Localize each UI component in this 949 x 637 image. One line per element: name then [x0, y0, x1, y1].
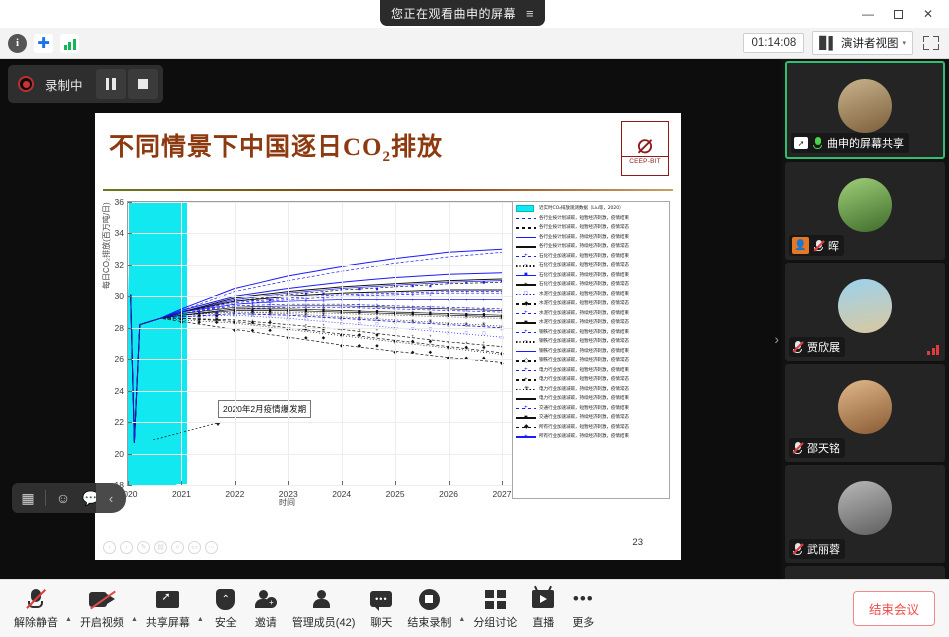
blank-screen-icon[interactable]: ▭	[188, 541, 201, 554]
avatar	[838, 279, 892, 333]
chart-series-line	[131, 279, 502, 443]
title-divider	[103, 189, 673, 191]
legend-swatch: +	[515, 280, 537, 289]
toolbar-right-group: 01:14:08 ▊▌ 演讲者视图 ▾	[743, 31, 949, 55]
participant-badge: 贾欣展	[789, 337, 845, 357]
chart-data-marker: ■	[358, 286, 361, 291]
legend-item: 各行业按计划减碳，持续经济刺激，疫情结束	[515, 233, 667, 243]
chart-gridline	[128, 296, 518, 297]
chart-x-tick-label: 2027	[493, 489, 512, 499]
chart-gridline	[128, 233, 518, 234]
legend-item: 各行业按计划减碳，持续经济刺激，疫情常态	[515, 242, 667, 252]
legend-swatch: +	[515, 252, 537, 261]
legend-swatch	[515, 394, 537, 403]
toolbar-button-shield[interactable]: ⌃安全	[206, 587, 246, 630]
mic-on-icon[interactable]	[812, 136, 823, 150]
legend-item: 近实时CO₂排放观测数据（Liu等，2020）	[515, 204, 667, 214]
chart-x-tick-mark	[288, 481, 289, 485]
legend-item: +交通行业加速减碳，短暂经济刺激，疫情结束	[515, 404, 667, 414]
legend-swatch	[515, 214, 537, 223]
chart-gridline	[128, 391, 518, 392]
chart-data-marker: □	[465, 330, 468, 335]
chart-data-marker: +	[465, 305, 468, 310]
chart-data-marker: ◆	[304, 335, 308, 340]
avatar	[838, 79, 892, 133]
chart-y-tick-label: 36	[115, 197, 124, 207]
chevron-down-icon: ▾	[902, 39, 906, 47]
participant-name: 武丽蓉	[807, 541, 840, 557]
legend-item: ◆所有行业加速减碳，短暂经济刺激，疫情常态	[515, 423, 667, 433]
mic-muted-icon[interactable]	[792, 542, 803, 556]
view-mode-label: 演讲者视图	[841, 35, 899, 51]
chart-gridline	[502, 202, 503, 485]
legend-item: ■石化行业加速减碳，持续经济刺激，疫情结束	[515, 271, 667, 281]
collapse-overlay-button[interactable]: ‹	[96, 483, 126, 513]
chart-y-tick-mark	[128, 391, 132, 392]
stop-record-icon	[419, 587, 440, 611]
close-button[interactable]: ✕	[913, 0, 943, 28]
chart-data-marker: +	[322, 299, 325, 304]
legend-label: 水泥行业加速减碳，持续经济刺激，疫情结束	[539, 309, 629, 318]
chart-data-marker: +	[429, 297, 432, 302]
toolbar-button-label: 更多	[572, 614, 594, 630]
legend-swatch: ■	[515, 413, 537, 422]
legend-swatch: ◆	[515, 299, 537, 308]
chart-data-marker: +	[251, 318, 254, 323]
legend-swatch	[515, 204, 537, 213]
chart-observed-area	[128, 241, 176, 485]
screen-share-notice: 您正在观看曲申的屏幕 ≡	[380, 0, 545, 26]
legend-swatch: +	[515, 432, 537, 441]
legend-item: □水泥行业加速减碳，短暂经济刺激，疫情结束	[515, 290, 667, 300]
invite-icon: +	[255, 587, 277, 611]
legend-item: 各行业按计划减碳，短暂经济刺激，疫情结束	[515, 214, 667, 224]
legend-swatch: ○	[515, 337, 537, 346]
legend-swatch: □	[515, 290, 537, 299]
chat-icon: •••	[370, 587, 392, 611]
stop-recording-button[interactable]	[128, 69, 158, 99]
info-icon[interactable]: i	[8, 34, 27, 53]
participant-badge: ➚曲申的屏幕共享	[791, 133, 909, 153]
slideshow-controls[interactable]: ‹ › ✎ ▤ ⌕ ▭ ⋯	[103, 541, 218, 554]
chart-gridline	[128, 359, 518, 360]
chart-data-marker: +	[482, 297, 485, 302]
legend-item: +电力行业加速减碳，短暂经济刺激，疫情结束	[515, 366, 667, 376]
chart-y-tick-label: 24	[115, 386, 124, 396]
legend-label: 各行业按计划减碳，短暂经济刺激，疫情常态	[539, 223, 629, 232]
chart-data-marker: ○	[376, 334, 379, 339]
chart-data-marker: +	[482, 305, 485, 310]
minimize-button[interactable]: —	[853, 0, 883, 28]
chart-data-marker: ■	[482, 312, 485, 317]
legend-swatch	[515, 233, 537, 242]
shield-icon: ⌃	[216, 587, 235, 611]
toolbar-button-participants[interactable]: 管理成员(42)	[286, 587, 362, 630]
zoom-icon[interactable]: ⌕	[171, 541, 184, 554]
legend-label: 石化行业加速减碳，短暂经济刺激，疫情常态	[539, 261, 629, 270]
legend-label: 水泥行业加速减碳，短暂经济刺激，疫情结束	[539, 290, 629, 299]
chart-data-marker: ■	[429, 310, 432, 315]
window-controls: — ✕	[853, 0, 943, 28]
chart-gridline	[128, 454, 518, 455]
chart-gridline	[395, 202, 396, 485]
legend-item: ✳电力行业加速减碳，持续经济刺激，疫情常态	[515, 385, 667, 395]
chart-y-tick-label: 32	[115, 260, 124, 270]
participant-tile[interactable]: ➚曲申的屏幕共享	[785, 61, 945, 159]
toolbar-left-icons: i ✚	[0, 34, 79, 53]
legend-item: ■交通行业加速减碳，持续经济刺激，疫情常态	[515, 413, 667, 423]
host-icon: 👤	[792, 237, 809, 254]
legend-label: 水泥行业加速减碳，持续经济刺激，疫情常态	[539, 318, 629, 327]
breakout-rooms-icon	[485, 587, 506, 611]
legend-label: 电力行业加速减碳，持续经济刺激，疫情常态	[539, 385, 629, 394]
ceep-bit-logo: ⌀ CEEP-BIT	[621, 121, 669, 176]
chart-y-tick-label: 30	[115, 291, 124, 301]
chart-data-marker: +	[358, 316, 361, 321]
chart-y-tick-mark	[128, 454, 132, 455]
toolbar-button-share-screen[interactable]: 共享屏幕	[140, 587, 196, 630]
chart-gridline	[342, 202, 343, 485]
presentation-slide: 不同情景下中国逐日CO2排放 ⌀ CEEP-BIT 每日CO₂排放(百万吨/日)…	[95, 113, 681, 560]
chart-gridline	[128, 265, 518, 266]
chart-data-marker: ○	[482, 346, 485, 351]
legend-item: 钢铁行业加速减碳，持续经济刺激，疫情结束	[515, 347, 667, 357]
legend-item: +水泥行业加速减碳，持续经济刺激，疫情结束	[515, 309, 667, 319]
chart-data-marker: ■	[411, 310, 414, 315]
meeting-timer: 01:14:08	[743, 33, 804, 53]
chart-y-tick-mark	[128, 422, 132, 423]
participant-name: 曲申的屏幕共享	[827, 135, 904, 151]
participant-name: 邵天铭	[807, 440, 840, 456]
legend-label: 水泥行业加速减碳，短暂经济刺激，疫情常态	[539, 299, 629, 308]
participant-rail[interactable]: ➚曲申的屏幕共享👤晖贾欣展邵天铭武丽蓉⌄	[781, 59, 949, 579]
legend-label: 石化行业加速减碳，短暂经济刺激，疫情结束	[539, 252, 629, 261]
legend-item: ◇钢铁行业加速减碳，持续经济刺激，疫情常态	[515, 356, 667, 366]
apps-grid-icon[interactable]: ▦	[15, 485, 41, 511]
chart-x-tick-label: 2022	[225, 489, 244, 499]
legend-label: 钢铁行业加速减碳，短暂经济刺激，疫情常态	[539, 337, 629, 346]
chart-data-marker: +	[376, 302, 379, 307]
chart-data-marker: +	[376, 297, 379, 302]
legend-item: ○石化行业加速减碳，短暂经济刺激，疫情常态	[515, 261, 667, 271]
chart-data-marker: ■	[305, 307, 308, 312]
chart-y-tick-label: 26	[115, 354, 124, 364]
chart-y-tick-mark	[128, 265, 132, 266]
chart-data-marker: +	[322, 313, 325, 318]
chart-data-marker: ■	[269, 307, 272, 312]
slide-page-number: 23	[632, 537, 643, 548]
chart-data-marker: +	[411, 297, 414, 302]
chevron-up-icon[interactable]: ▲	[65, 616, 72, 623]
legend-label: 交通行业加速减碳，短暂经济刺激，疫情结束	[539, 404, 629, 413]
toolbar-button-chat[interactable]: •••聊天	[361, 587, 401, 630]
legend-swatch: ■	[515, 271, 537, 280]
chart-data-marker: ■	[482, 280, 485, 285]
chart-data-marker: +	[269, 302, 272, 307]
emoji-icon[interactable]: ☺	[50, 485, 76, 511]
chart-data-marker: ◆	[411, 349, 415, 354]
legend-label: 所有行业加速减碳，短暂经济刺激，疫情常态	[539, 423, 629, 432]
chart-data-marker: +	[358, 297, 361, 302]
chart-x-tick-mark	[235, 481, 236, 485]
screen-share-notice-text: 您正在观看曲申的屏幕	[391, 5, 516, 22]
chart-data-marker: +	[269, 318, 272, 323]
legend-item: +钢铁行业加速减碳，短暂经济刺激，疫情结束	[515, 328, 667, 338]
chart-data-marker: +	[429, 319, 432, 324]
participant-badge: 邵天铭	[789, 438, 845, 458]
chart-y-tick-mark	[128, 359, 132, 360]
chart-x-tick-label: 2026	[439, 489, 458, 499]
window-titlebar: 您正在观看曲申的屏幕 ≡ — ✕	[0, 0, 949, 28]
chart-gridline	[449, 202, 450, 485]
slide-title-subscript: 2	[383, 149, 392, 165]
chart-annotation: 2020年2月疫情爆发期	[218, 400, 311, 418]
toolbar-button-label: 开启视频	[80, 614, 124, 630]
legend-item: ◆水泥行业加速减碳，短暂经济刺激，疫情常态	[515, 299, 667, 309]
participant-tile[interactable]: 武丽蓉	[785, 465, 945, 563]
chart-y-tick-mark	[128, 233, 132, 234]
legend-item: 电力行业加速减碳，持续经济刺激，疫情结束	[515, 394, 667, 404]
toolbar-button-label: 结束录制	[407, 614, 451, 630]
chart-y-tick-mark	[128, 328, 132, 329]
chart-data-marker: ■	[465, 280, 468, 285]
chart-data-marker: ◆	[375, 343, 379, 348]
recording-indicator: 录制中	[8, 65, 163, 103]
speaker-view-icon: ▊▌	[819, 36, 837, 50]
toolbar-button-mic-muted[interactable]: 解除静音	[8, 587, 64, 630]
maximize-button[interactable]	[883, 0, 913, 28]
legend-item: +石化行业加速减碳，持续经济刺激，疫情常态	[515, 280, 667, 290]
fullscreen-icon[interactable]	[921, 33, 941, 53]
legend-swatch: +	[515, 309, 537, 318]
legend-item: ○钢铁行业加速减碳，短暂经济刺激，疫情常态	[515, 337, 667, 347]
chart-data-marker: +	[251, 312, 254, 317]
chart-data-marker: ○	[358, 334, 361, 339]
legend-item: 各行业按计划减碳，短暂经济刺激，疫情常态	[515, 223, 667, 233]
co2-emission-chart: 每日CO₂排放(百万吨/日) +++++++++++++++++++○○○○○○…	[103, 197, 673, 527]
prev-slide-icon[interactable]: ‹	[103, 541, 116, 554]
pause-recording-button[interactable]	[96, 69, 126, 99]
chart-gridline	[128, 328, 518, 329]
participant-tile[interactable]: 👤晖	[785, 162, 945, 260]
chart-data-marker: +	[376, 316, 379, 321]
chart-data-marker: +	[465, 297, 468, 302]
legend-label: 所有行业加速减碳，持续经济刺激，疫情结束	[539, 432, 629, 441]
next-slide-icon[interactable]: ›	[120, 541, 133, 554]
legend-label: 电力行业加速减碳，短暂经济刺激，疫情常态	[539, 375, 629, 384]
chart-x-tick-label: 2024	[332, 489, 351, 499]
chart-y-tick-label: 22	[115, 417, 124, 427]
mic-muted-icon[interactable]	[813, 239, 824, 253]
chart-data-marker: ◆	[358, 343, 362, 348]
legend-swatch: ✳	[515, 385, 537, 394]
legend-label: 电力行业加速减碳，持续经济刺激，疫情结束	[539, 394, 629, 403]
legend-swatch: +	[515, 375, 537, 384]
chart-data-marker: ◆	[429, 349, 433, 354]
toolbar-button-label: 聊天	[370, 614, 392, 630]
legend-item: +石化行业加速减碳，短暂经济刺激，疫情结束	[515, 252, 667, 262]
chart-y-tick-label: 20	[115, 449, 124, 459]
participant-badge: 👤晖	[789, 235, 844, 256]
chart-data-marker: +	[429, 334, 432, 339]
floating-reaction-bar: ▦ ☺ 💬	[12, 483, 107, 513]
chevron-up-icon[interactable]: ▲	[131, 616, 138, 623]
toolbar-button-label: 安全	[215, 614, 237, 630]
participant-badge: 武丽蓉	[789, 539, 845, 559]
chart-gridline	[128, 422, 518, 423]
participant-name: 晖	[828, 238, 839, 254]
avatar	[838, 178, 892, 232]
chart-data-marker: +	[465, 340, 468, 345]
chart-data-marker: ■	[429, 283, 432, 288]
network-signal-icon	[927, 345, 939, 355]
toolbar-button-label: 共享屏幕	[146, 614, 190, 630]
encryption-shield-icon[interactable]: ✚	[34, 34, 53, 53]
chart-x-tick-mark	[395, 481, 396, 485]
chart-data-marker: □	[482, 330, 485, 335]
chart-data-marker: +	[411, 319, 414, 324]
chart-x-tick-mark	[128, 481, 129, 485]
pen-icon[interactable]: ✎	[137, 541, 150, 554]
legend-swatch: ◆	[515, 423, 537, 432]
toolbar-button-breakout-rooms[interactable]: 分组讨论	[467, 587, 523, 630]
chart-data-marker: +	[305, 313, 308, 318]
chart-data-marker: ○	[411, 340, 414, 345]
chart-y-tick-label: 34	[115, 228, 124, 238]
chart-data-marker: ■	[376, 286, 379, 291]
chart-data-marker: +	[198, 310, 201, 315]
mic-muted-icon[interactable]	[792, 340, 803, 354]
share-screen-icon	[156, 587, 179, 611]
legend-item: +电力行业加速减碳，短暂经济刺激，疫情常态	[515, 375, 667, 385]
legend-label: 交通行业加速减碳，持续经济刺激，疫情常态	[539, 413, 629, 422]
toolbar-button-video-off[interactable]: 开启视频	[74, 587, 130, 630]
chart-gridline	[128, 485, 518, 486]
toolbar-button-stop-record[interactable]: 结束录制	[401, 587, 457, 630]
chart-y-tick-mark	[128, 202, 132, 203]
chart-series-lines: +++++++++++++++++++○○○○○○○○○○○○○○○○○○○■■…	[128, 202, 518, 485]
chart-data-marker: +	[269, 312, 272, 317]
legend-label: 各行业按计划减碳，持续经济刺激，疫情常态	[539, 242, 629, 251]
end-meeting-button[interactable]: 结束会议	[853, 591, 935, 626]
chevron-up-icon[interactable]: ▲	[197, 616, 204, 623]
avatar	[838, 380, 892, 434]
chart-data-marker: +	[411, 334, 414, 339]
chart-data-marker: □	[376, 321, 379, 326]
mic-muted-icon	[27, 587, 45, 611]
legend-swatch	[515, 347, 537, 356]
participant-name: 贾欣展	[807, 339, 840, 355]
recording-dot-icon	[18, 76, 34, 92]
chart-data-marker: +	[429, 304, 432, 309]
view-mode-selector[interactable]: ▊▌ 演讲者视图 ▾	[812, 31, 913, 55]
recording-controls	[96, 69, 158, 99]
meeting-controls-toolbar: 解除静音▲开启视频▲共享屏幕▲⌃安全+邀请管理成员(42)•••聊天结束录制▲分…	[0, 579, 949, 637]
notice-menu-icon[interactable]: ≡	[526, 7, 534, 20]
legend-label: 钢铁行业加速减碳，短暂经济刺激，疫情结束	[539, 328, 629, 337]
logo-swirl-icon: ⌀	[637, 132, 653, 156]
chart-x-axis-label: 时间	[279, 497, 295, 508]
chart-x-tick-mark	[502, 481, 503, 485]
chart-data-marker: +	[482, 340, 485, 345]
chart-y-tick-label: 28	[115, 323, 124, 333]
chart-data-marker: ■	[411, 283, 414, 288]
participants-icon	[313, 587, 335, 611]
toolbar-button-live-stream[interactable]: 直播	[523, 587, 563, 630]
legend-label: 石化行业加速减碳，持续经济刺激，疫情常态	[539, 280, 629, 289]
chart-data-marker: ◆	[197, 319, 201, 324]
expand-panel-icon[interactable]: ›	[774, 331, 779, 347]
chart-y-tick-mark	[128, 296, 132, 297]
chart-plot-area: +++++++++++++++++++○○○○○○○○○○○○○○○○○○○■■…	[127, 201, 519, 486]
chart-data-marker: ■	[251, 307, 254, 312]
video-off-icon	[89, 587, 115, 611]
chart-data-marker: ■	[376, 308, 379, 313]
chart-data-marker: +	[358, 302, 361, 307]
chart-gridline	[181, 202, 182, 485]
legend-label: 近实时CO₂排放观测数据（Liu等，2020）	[539, 204, 624, 213]
mic-muted-icon[interactable]	[792, 441, 803, 455]
more-options-icon[interactable]: ⋯	[205, 541, 218, 554]
chart-x-tick-mark	[181, 481, 182, 485]
legend-label: 钢铁行业加速减碳，持续经济刺激，疫情结束	[539, 347, 629, 356]
participant-tile[interactable]: ⌄	[785, 566, 945, 579]
slide-title-main: 不同情景下中国逐日CO	[109, 134, 383, 161]
chart-data-marker: ○	[429, 340, 432, 345]
legend-swatch: +	[515, 328, 537, 337]
meeting-info-toolbar: i ✚ 01:14:08 ▊▌ 演讲者视图 ▾	[0, 28, 949, 59]
chart-data-marker: ◆	[215, 319, 219, 324]
chart-data-marker: +	[411, 304, 414, 309]
slides-grid-icon[interactable]: ▤	[154, 541, 167, 554]
toolbar-button-label: 邀请	[255, 614, 277, 630]
slide-header: 不同情景下中国逐日CO2排放 ⌀ CEEP-BIT	[95, 113, 681, 191]
network-stats-icon[interactable]	[60, 34, 79, 53]
chart-data-marker: □	[358, 321, 361, 326]
legend-swatch	[515, 242, 537, 251]
more-icon: •••	[573, 587, 594, 611]
chart-gridline	[128, 202, 518, 203]
chart-x-tick-mark	[342, 481, 343, 485]
chart-y-tick-mark	[128, 485, 132, 486]
toolbar-button-more[interactable]: •••更多	[563, 587, 603, 630]
toolbar-button-label: 直播	[532, 614, 554, 630]
toolbar-button-label: 分组讨论	[473, 614, 517, 630]
chart-data-marker: ■	[465, 312, 468, 317]
legend-label: 各行业按计划减碳，持续经济刺激，疫情结束	[539, 233, 629, 242]
legend-label: 石化行业加速减碳，持续经济刺激，疫情结束	[539, 271, 629, 280]
screen-share-icon: ➚	[794, 137, 808, 149]
live-stream-icon	[532, 587, 554, 611]
chart-legend: 近实时CO₂排放观测数据（Liu等，2020）各行业按计划减碳，短暂经济刺激，疫…	[512, 201, 670, 499]
chart-data-marker: +	[305, 299, 308, 304]
chart-x-tick-mark	[449, 481, 450, 485]
chevron-up-icon[interactable]: ▲	[458, 616, 465, 623]
toolbar-button-invite[interactable]: +邀请	[246, 587, 286, 630]
participant-tile[interactable]: 邵天铭	[785, 364, 945, 462]
chart-data-marker: ◆	[322, 335, 326, 340]
toolbar-button-label: 解除静音	[14, 614, 58, 630]
divider	[45, 490, 46, 506]
participant-tile[interactable]: 贾欣展	[785, 263, 945, 361]
chart-data-marker: ■	[322, 307, 325, 312]
avatar	[838, 481, 892, 535]
legend-label: 钢铁行业加速减碳，持续经济刺激，疫情常态	[539, 356, 629, 365]
chart-gridline	[235, 202, 236, 485]
legend-swatch: +	[515, 366, 537, 375]
chart-data-marker: +	[251, 302, 254, 307]
legend-swatch: +	[515, 404, 537, 413]
